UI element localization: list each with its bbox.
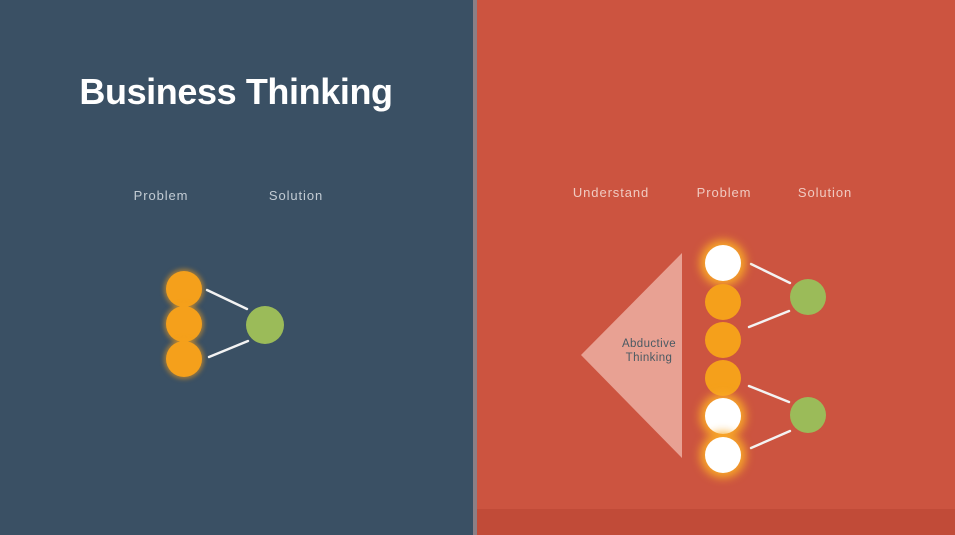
business-thinking-title: Business Thinking <box>0 71 472 113</box>
abductive-thinking-label-line-2: Thinking <box>604 351 694 365</box>
design-column-label-solution: Solution <box>798 185 852 200</box>
business-column-label-problem: Problem <box>134 188 189 203</box>
design-column-label-problem: Problem <box>697 185 752 200</box>
business-thinking-panel: Business Thinking <box>0 0 473 535</box>
design-panel-bottom-band <box>477 509 955 535</box>
business-column-label-solution: Solution <box>269 188 323 203</box>
design-thinking-title: Design Thinking <box>893 71 955 113</box>
panel-divider <box>473 0 477 535</box>
abductive-thinking-label: Abductive Thinking <box>604 337 694 365</box>
slide-canvas: Business Thinking Design Thinking Proble… <box>0 0 955 535</box>
design-thinking-panel: Design Thinking <box>477 0 955 535</box>
abductive-thinking-label-line-1: Abductive <box>604 337 694 351</box>
design-column-label-understand: Understand <box>573 185 649 200</box>
